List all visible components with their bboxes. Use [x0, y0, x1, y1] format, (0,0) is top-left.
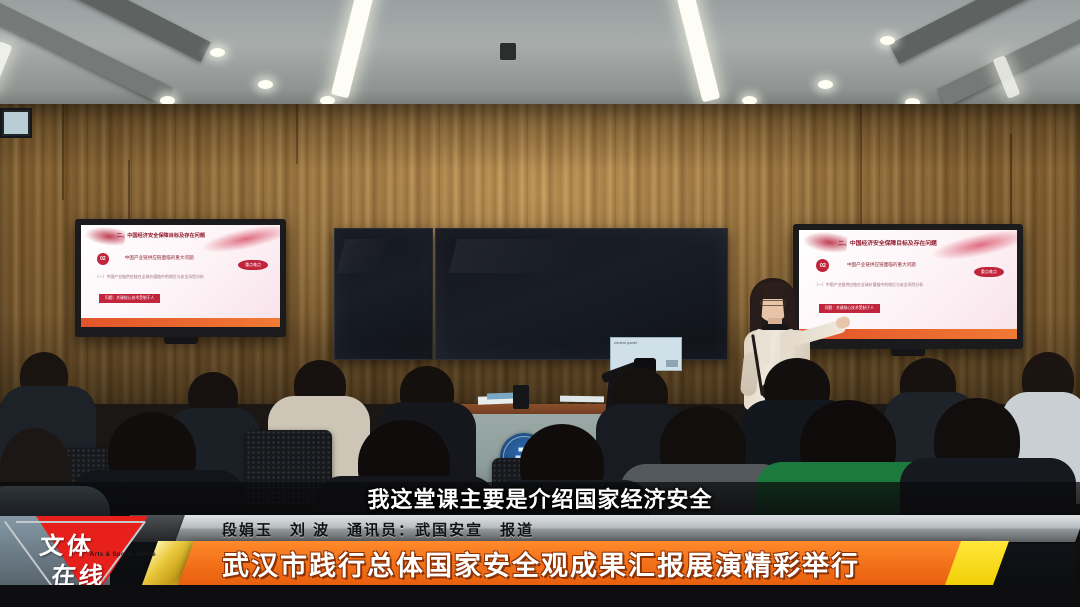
slide-right-title: 二、中国经济安全保障目标及存在问题	[838, 238, 1008, 247]
slide-right-subtitle: 中国产业链供应链面临的重大问题	[847, 262, 965, 268]
center-display-panel-right	[435, 228, 728, 360]
screen-stand	[891, 349, 925, 356]
slide-left-badge: 02	[97, 253, 109, 265]
ceiling-strip-light	[674, 0, 720, 102]
control-panel-label: control panel	[614, 340, 637, 345]
desk-papers	[560, 396, 604, 403]
microphone-base	[513, 385, 529, 409]
ceiling-downlight	[210, 48, 225, 57]
slide-left-body: （一）中国产业链供应链在全球价值链中的地位与安全风险分析	[95, 274, 268, 280]
headline-text: 武汉市践行总体国家安全观成果汇报展演精彩举行	[222, 541, 962, 585]
slide-left-title: 二、中国经济安全保障目标及存在问题	[117, 232, 272, 239]
ceiling-vent	[500, 43, 516, 60]
ceiling-strip-light	[0, 41, 12, 91]
broadcast-frame: 二、中国经济安全保障目标及存在问题 02 中国产业链供应链面临的重大问题 重点难…	[0, 0, 1080, 607]
ceiling-downlight	[258, 80, 273, 89]
slide-left-pill: 重点难点	[238, 260, 268, 270]
center-display-panel-left	[334, 228, 433, 360]
slide-left-tag: 问题：关键核心技术受制于人	[99, 294, 160, 303]
ceiling-downlight	[818, 80, 833, 89]
subtitle-bar: 我这堂课主要是介绍国家经济安全	[0, 482, 1080, 514]
screen-stand	[164, 337, 198, 344]
presenter-glasses	[760, 300, 786, 306]
subtitle-text: 我这堂课主要是介绍国家经济安全	[367, 482, 712, 514]
credit-text: 段娟玉 刘 波 通讯员：武国安宣 报道	[222, 518, 534, 540]
ceiling-downlight	[880, 36, 895, 45]
letterbox-bottom	[0, 585, 1080, 607]
ceiling	[0, 0, 1080, 112]
ceiling-strip-light	[331, 0, 377, 98]
slide-left-subtitle: 中国产业链供应链面临的重大问题	[125, 255, 232, 261]
slide-left: 二、中国经济安全保障目标及存在问题 02 中国产业链供应链面临的重大问题 重点难…	[81, 225, 280, 327]
slide-right-pill: 重点难点	[974, 267, 1004, 277]
projection-screen-left: 二、中国经济安全保障目标及存在问题 02 中国产业链供应链面临的重大问题 重点难…	[75, 219, 286, 337]
wall-monitor-left	[0, 108, 32, 138]
